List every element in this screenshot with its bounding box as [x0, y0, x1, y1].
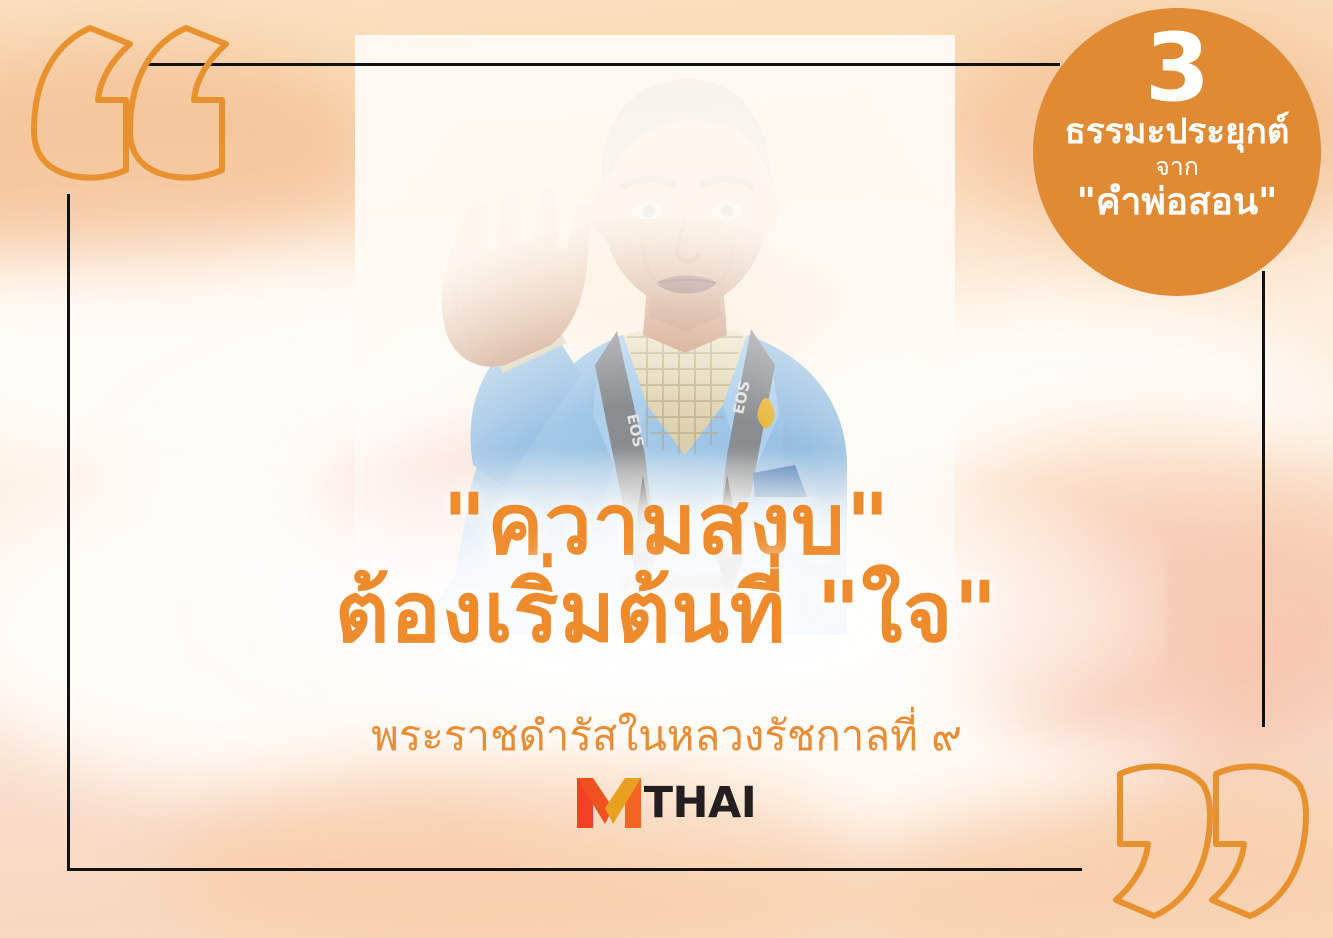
badge-line-2: จาก [1155, 153, 1199, 181]
poster-canvas: EOS EOS [0, 0, 1333, 938]
mthai-logo: THAI [0, 778, 1333, 828]
badge-line-1: ธรรมะประยุกต์ [1064, 114, 1289, 152]
headline: "ความสงบ" ต้องเริ่มต้นที่ "ใจ" [0, 482, 1333, 654]
headline-line-2: ต้องเริ่มต้นที่ "ใจ" [0, 570, 1333, 654]
mthai-m-mark-icon [577, 778, 641, 828]
subtitle: พระราชดำรัสในหลวงรัชกาลที่ ๙ [0, 703, 1333, 769]
open-quote-mark-icon [18, 18, 238, 198]
badge-number: 3 [1145, 26, 1209, 112]
frame-line-top [145, 63, 1060, 66]
headline-line-1: "ความสงบ" [0, 482, 1333, 566]
mthai-wordmark: THAI [644, 782, 757, 825]
frame-line-bottom [67, 868, 1082, 871]
badge-line-3: "คำพ่อสอน" [1077, 182, 1278, 223]
badge-circle: 3 ธรรมะประยุกต์ จาก "คำพ่อสอน" [1033, 8, 1321, 296]
